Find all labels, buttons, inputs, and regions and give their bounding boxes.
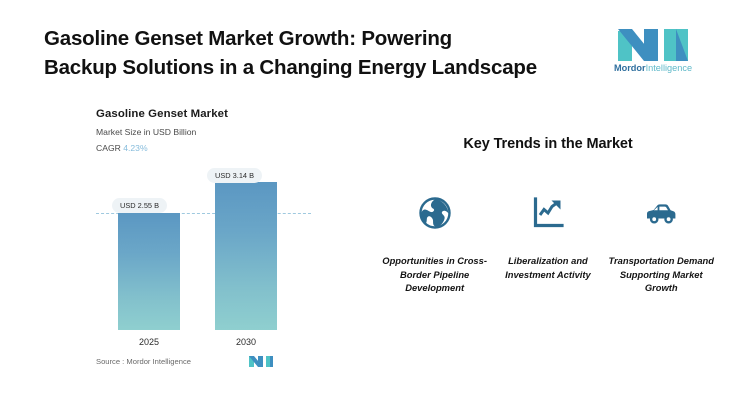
bar-2030 bbox=[215, 182, 277, 330]
x-axis-tick-2025: 2025 bbox=[118, 337, 180, 347]
bar-2025 bbox=[118, 213, 180, 330]
bar-value-label-2025: USD 2.55 B bbox=[112, 198, 167, 213]
trend-label-1: Opportunities in Cross-Border Pipeline D… bbox=[381, 254, 489, 295]
key-trends-grid: Opportunities in Cross-Border Pipeline D… bbox=[378, 196, 718, 295]
key-trends-heading: Key Trends in the Market bbox=[378, 136, 718, 152]
trend-label-2: Liberalization and Investment Activity bbox=[494, 254, 602, 281]
trend-item-1: Opportunities in Cross-Border Pipeline D… bbox=[378, 196, 491, 295]
bar-chart-plot: USD 2.55 B USD 3.14 B 2025 2030 bbox=[96, 165, 311, 345]
page-title-line-2: Backup Solutions in a Changing Energy La… bbox=[44, 53, 604, 82]
growth-chart-icon bbox=[531, 196, 565, 230]
x-axis-tick-2030: 2030 bbox=[215, 337, 277, 347]
trend-label-3: Transportation Demand Supporting Market … bbox=[607, 254, 715, 295]
header: Gasoline Genset Market Growth: Powering … bbox=[0, 0, 750, 96]
cagr-value: 4.23% bbox=[123, 143, 147, 153]
trend-item-3: Transportation Demand Supporting Market … bbox=[605, 196, 718, 295]
bar-value-label-2030: USD 3.14 B bbox=[207, 168, 262, 183]
brand-logo-wordmark: MordorIntelligence bbox=[604, 63, 702, 73]
key-trends-panel: Key Trends in the Market Opportunities i… bbox=[378, 136, 718, 356]
trend-item-2: Liberalization and Investment Activity bbox=[491, 196, 604, 295]
globe-icon bbox=[418, 196, 452, 230]
cagr-label: CAGR bbox=[96, 143, 121, 153]
page-title: Gasoline Genset Market Growth: Powering … bbox=[44, 24, 604, 82]
chart-title: Gasoline Genset Market bbox=[96, 108, 316, 120]
chart-subtitle: Market Size in USD Billion bbox=[96, 127, 316, 137]
mordor-intelligence-mark-icon bbox=[248, 355, 274, 367]
chart-cagr: CAGR 4.23% bbox=[96, 143, 316, 153]
brand-name-bold: Mordor bbox=[614, 63, 646, 73]
chart-source: Source : Mordor Intelligence bbox=[96, 355, 311, 369]
mordor-intelligence-logo-icon bbox=[614, 27, 692, 61]
source-label: Source : Mordor Intelligence bbox=[96, 357, 191, 366]
infographic-page: Gasoline Genset Market Growth: Powering … bbox=[0, 0, 750, 408]
car-icon bbox=[644, 196, 678, 230]
brand-logo: MordorIntelligence bbox=[604, 27, 702, 79]
page-title-line-1: Gasoline Genset Market Growth: Powering bbox=[44, 24, 604, 53]
brand-name-light: Intelligence bbox=[646, 63, 692, 73]
